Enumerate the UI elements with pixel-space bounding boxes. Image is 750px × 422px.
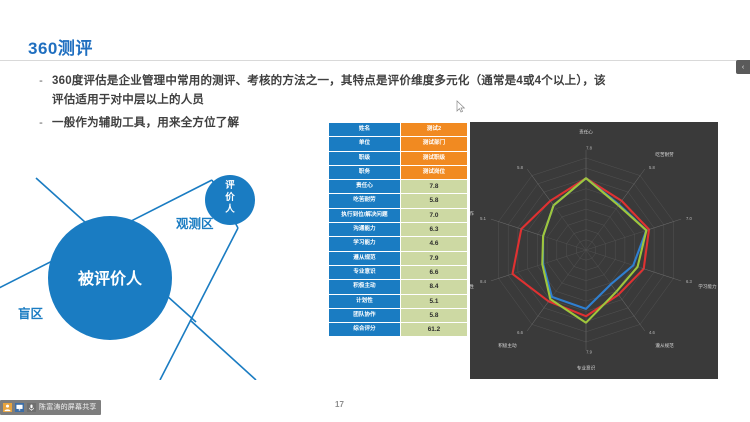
- table-row: 遵从规范7.9: [329, 251, 468, 265]
- table-cell-key: 遵从规范: [329, 251, 401, 265]
- radar-axis-label: 责任心: [579, 129, 593, 136]
- table-cell-value: 6.3: [400, 223, 467, 237]
- table-cell-key: 沟通能力: [329, 223, 401, 237]
- radar-value-leader: [611, 284, 645, 331]
- radar-axis-value: 7.9: [586, 349, 592, 354]
- radar-axis-label: 遵从规范: [655, 342, 674, 349]
- bullet-line: 360度评估是企业管理中常用的测评、考核的方法之一，其特点是评价维度多元化（通常…: [52, 72, 606, 91]
- page-number: 17: [335, 400, 344, 409]
- radar-axis-value: 8.4: [480, 279, 486, 284]
- radar-value-leader: [617, 169, 644, 207]
- table-row: 责任心7.8: [329, 180, 468, 194]
- blind-zone-label: 盲区: [18, 306, 44, 321]
- table-cell-value: 7.0: [400, 208, 467, 222]
- radar-axis-label: 团队协作: [470, 210, 474, 217]
- table-cell-value: 61.2: [400, 323, 467, 337]
- observation-zone-label: 观测区: [176, 216, 214, 231]
- evaluator-circle-label: 人: [225, 203, 235, 215]
- table-cell-value: 5.8: [400, 194, 467, 208]
- table-cell-value: 测试部门: [400, 137, 467, 151]
- table-cell-key: 积极主动: [329, 280, 401, 294]
- radar-axis-value: 6.3: [686, 279, 692, 284]
- table-cell-key: 计划性: [329, 294, 401, 308]
- table-cell-value: 6.6: [400, 265, 467, 279]
- table-row: 综合评分61.2: [329, 323, 468, 337]
- table-cell-key: 专业意识: [329, 265, 401, 279]
- table-cell-key: 职务: [329, 165, 401, 179]
- radar-value-leader: [491, 274, 513, 281]
- radar-axis-label: 吃苦耐劳: [655, 151, 674, 158]
- table-cell-value: 测试岗位: [400, 165, 467, 179]
- radar-axis-label: 专业意识: [577, 365, 596, 372]
- bullet-marker: -: [30, 72, 52, 91]
- radar-axis-value: 6.6: [517, 330, 523, 335]
- table-row: 吃苦耐劳5.8: [329, 194, 468, 208]
- radar-axis-value: 5.8: [649, 165, 655, 170]
- radar-value-leader: [647, 219, 681, 230]
- table-cell-value: 4.6: [400, 237, 467, 251]
- radar-axis-label: 学习能力: [698, 283, 717, 290]
- monitor-icon[interactable]: [15, 403, 24, 412]
- score-table: 姓名测试2单位测试部门职级测试职级职务测试岗位责任心7.8吃苦耐劳5.8执行到位…: [328, 122, 468, 337]
- share-owner-label: 陈富涛的屏幕共享: [39, 400, 97, 415]
- table-cell-key: 执行到位/解决问题: [329, 208, 401, 222]
- table-cell-value: 7.9: [400, 251, 467, 265]
- microphone-icon[interactable]: [27, 403, 36, 412]
- table-cell-value: 5.1: [400, 294, 467, 308]
- table-cell-value: 测试2: [400, 123, 467, 137]
- radar-axis-label: 积极主动: [498, 342, 517, 349]
- score-table-body: 姓名测试2单位测试部门职级测试职级职务测试岗位责任心7.8吃苦耐劳5.8执行到位…: [329, 123, 468, 337]
- table-cell-key: 责任心: [329, 180, 401, 194]
- table-cell-value: 测试职级: [400, 151, 467, 165]
- evaluation-diagram: 被评价人 评 价 人 观测区 盲区: [0, 150, 300, 380]
- bullet-item: - 360度评估是企业管理中常用的测评、考核的方法之一，其特点是评价维度多元化（…: [30, 72, 720, 110]
- panel-collapse-tab[interactable]: ‹: [736, 60, 750, 74]
- mouse-cursor-icon: [456, 100, 466, 113]
- table-row: 沟通能力6.3: [329, 223, 468, 237]
- bullet-line: 评估适用于对中层以上的人员: [52, 91, 606, 110]
- table-row: 职务测试岗位: [329, 165, 468, 179]
- table-row: 执行到位/解决问题7.0: [329, 208, 468, 222]
- table-cell-key: 职级: [329, 151, 401, 165]
- table-cell-key: 吃苦耐劳: [329, 194, 401, 208]
- table-row: 专业意识6.6: [329, 265, 468, 279]
- evaluator-circle-label: 评: [225, 179, 235, 191]
- person-icon[interactable]: [3, 403, 12, 412]
- table-row: 积极主动8.4: [329, 280, 468, 294]
- title-divider: [0, 60, 750, 61]
- table-cell-key: 姓名: [329, 123, 401, 137]
- table-cell-value: 5.8: [400, 308, 467, 322]
- radar-value-leader: [527, 299, 550, 331]
- radar-axis-value: 5.1: [480, 216, 486, 221]
- table-row: 团队协作5.8: [329, 308, 468, 322]
- radar-axis-value: 7.0: [686, 216, 692, 221]
- table-row: 计划性5.1: [329, 294, 468, 308]
- radar-value-leader: [527, 169, 554, 207]
- radar-axis-label: 计划性: [470, 283, 474, 290]
- evaluator-circle-label: 价: [225, 191, 235, 203]
- bullet-line: 一般作为辅助工具，用来全方位了解: [52, 114, 239, 133]
- table-cell-value: 8.4: [400, 280, 467, 294]
- radar-series-自评: [513, 178, 650, 316]
- radar-axis-value: 4.6: [649, 330, 655, 335]
- table-cell-key: 学习能力: [329, 237, 401, 251]
- table-cell-key: 单位: [329, 137, 401, 151]
- radar-chart-svg: 责任心7.8吃苦耐劳5.87.0学习能力6.3遵从规范4.6专业意识7.9积极主…: [470, 122, 718, 379]
- table-row: 姓名测试2: [329, 123, 468, 137]
- bullet-marker: -: [30, 114, 52, 133]
- radar-chart: 责任心7.8吃苦耐劳5.87.0学习能力6.3遵从规范4.6专业意识7.9积极主…: [470, 122, 718, 379]
- table-cell-value: 7.8: [400, 180, 467, 194]
- radar-axis-value: 7.8: [586, 145, 592, 150]
- table-row: 单位测试部门: [329, 137, 468, 151]
- table-row: 学习能力4.6: [329, 237, 468, 251]
- radar-axis-value: 5.8: [517, 165, 523, 170]
- table-cell-key: 团队协作: [329, 308, 401, 322]
- page-title: 360测评: [28, 34, 93, 59]
- table-row: 职级测试职级: [329, 151, 468, 165]
- table-cell-key: 综合评分: [329, 323, 401, 337]
- subject-circle-label: 被评价人: [78, 269, 143, 288]
- slide-canvas: 360测评 - 360度评估是企业管理中常用的测评、考核的方法之一，其特点是评价…: [0, 0, 750, 422]
- screen-share-bar[interactable]: 陈富涛的屏幕共享: [0, 400, 101, 415]
